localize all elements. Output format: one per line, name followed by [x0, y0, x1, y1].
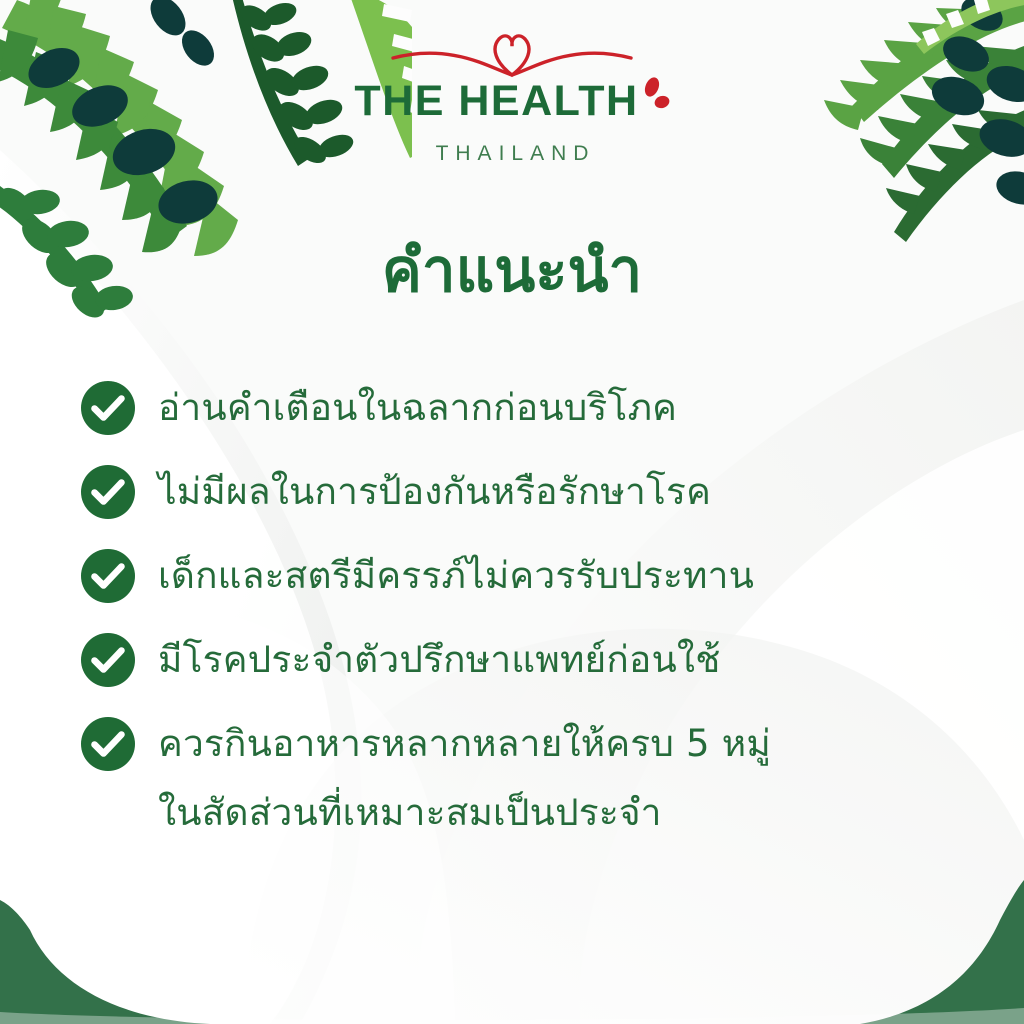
list-item-text: ควรกินอาหารหลากหลายให้ครบ 5 หมู่ ในสัดส่… — [144, 714, 771, 839]
list-item-text: อ่านคำเตือนในฉลากก่อนบริโภค — [144, 378, 677, 435]
bullet-wrap — [80, 546, 144, 604]
bullet-wrap — [80, 378, 144, 436]
list-item-line: อ่านคำเตือนในฉลากก่อนบริโภค — [158, 382, 677, 435]
check-circle-icon — [80, 464, 136, 520]
list-item-text: เด็กและสตรีมีครรภ์ไม่ควรรับประทาน — [144, 546, 754, 603]
brand-logo: THE HEALTH THAILAND — [0, 28, 1024, 166]
list-item: ไม่มีผลในการป้องกันหรือรักษาโรค — [80, 462, 960, 520]
list-item-line: มีโรคประจำตัวปรึกษาแพทย์ก่อนใช้ — [158, 634, 721, 687]
list-item-line: ในสัดส่วนที่เหมาะสมเป็นประจำ — [158, 787, 771, 840]
check-circle-icon — [80, 380, 136, 436]
list-item: ควรกินอาหารหลากหลายให้ครบ 5 หมู่ ในสัดส่… — [80, 714, 960, 839]
list-item-line: ควรกินอาหารหลากหลายให้ครบ 5 หมู่ — [158, 718, 771, 771]
check-circle-icon — [80, 632, 136, 688]
brand-subtitle: THAILAND — [429, 142, 596, 166]
bullet-wrap — [80, 714, 144, 772]
list-item-text: ไม่มีผลในการป้องกันหรือรักษาโรค — [144, 462, 711, 519]
check-circle-icon — [80, 716, 136, 772]
list-item-line: เด็กและสตรีมีครรภ์ไม่ควรรับประทาน — [158, 550, 754, 603]
poster-canvas: THE HEALTH THAILAND คำแนะนำ อ่านคำเตือนใ… — [0, 0, 1024, 1024]
red-petals-icon — [640, 76, 670, 118]
list-item: อ่านคำเตือนในฉลากก่อนบริโภค — [80, 378, 960, 436]
list-item-text: มีโรคประจำตัวปรึกษาแพทย์ก่อนใช้ — [144, 630, 721, 687]
bullet-wrap — [80, 462, 144, 520]
check-circle-icon — [80, 548, 136, 604]
list-item: มีโรคประจำตัวปรึกษาแพทย์ก่อนใช้ — [80, 630, 960, 688]
list-item: เด็กและสตรีมีครรภ์ไม่ควรรับประทาน — [80, 546, 960, 604]
list-item-line: ไม่มีผลในการป้องกันหรือรักษาโรค — [158, 466, 711, 519]
page-title: คำแนะนำ — [0, 238, 1024, 304]
brand-name: THE HEALTH — [354, 80, 638, 123]
recommendation-list: อ่านคำเตือนในฉลากก่อนบริโภค ไม่มีผลในการ… — [80, 378, 960, 839]
bullet-wrap — [80, 630, 144, 688]
